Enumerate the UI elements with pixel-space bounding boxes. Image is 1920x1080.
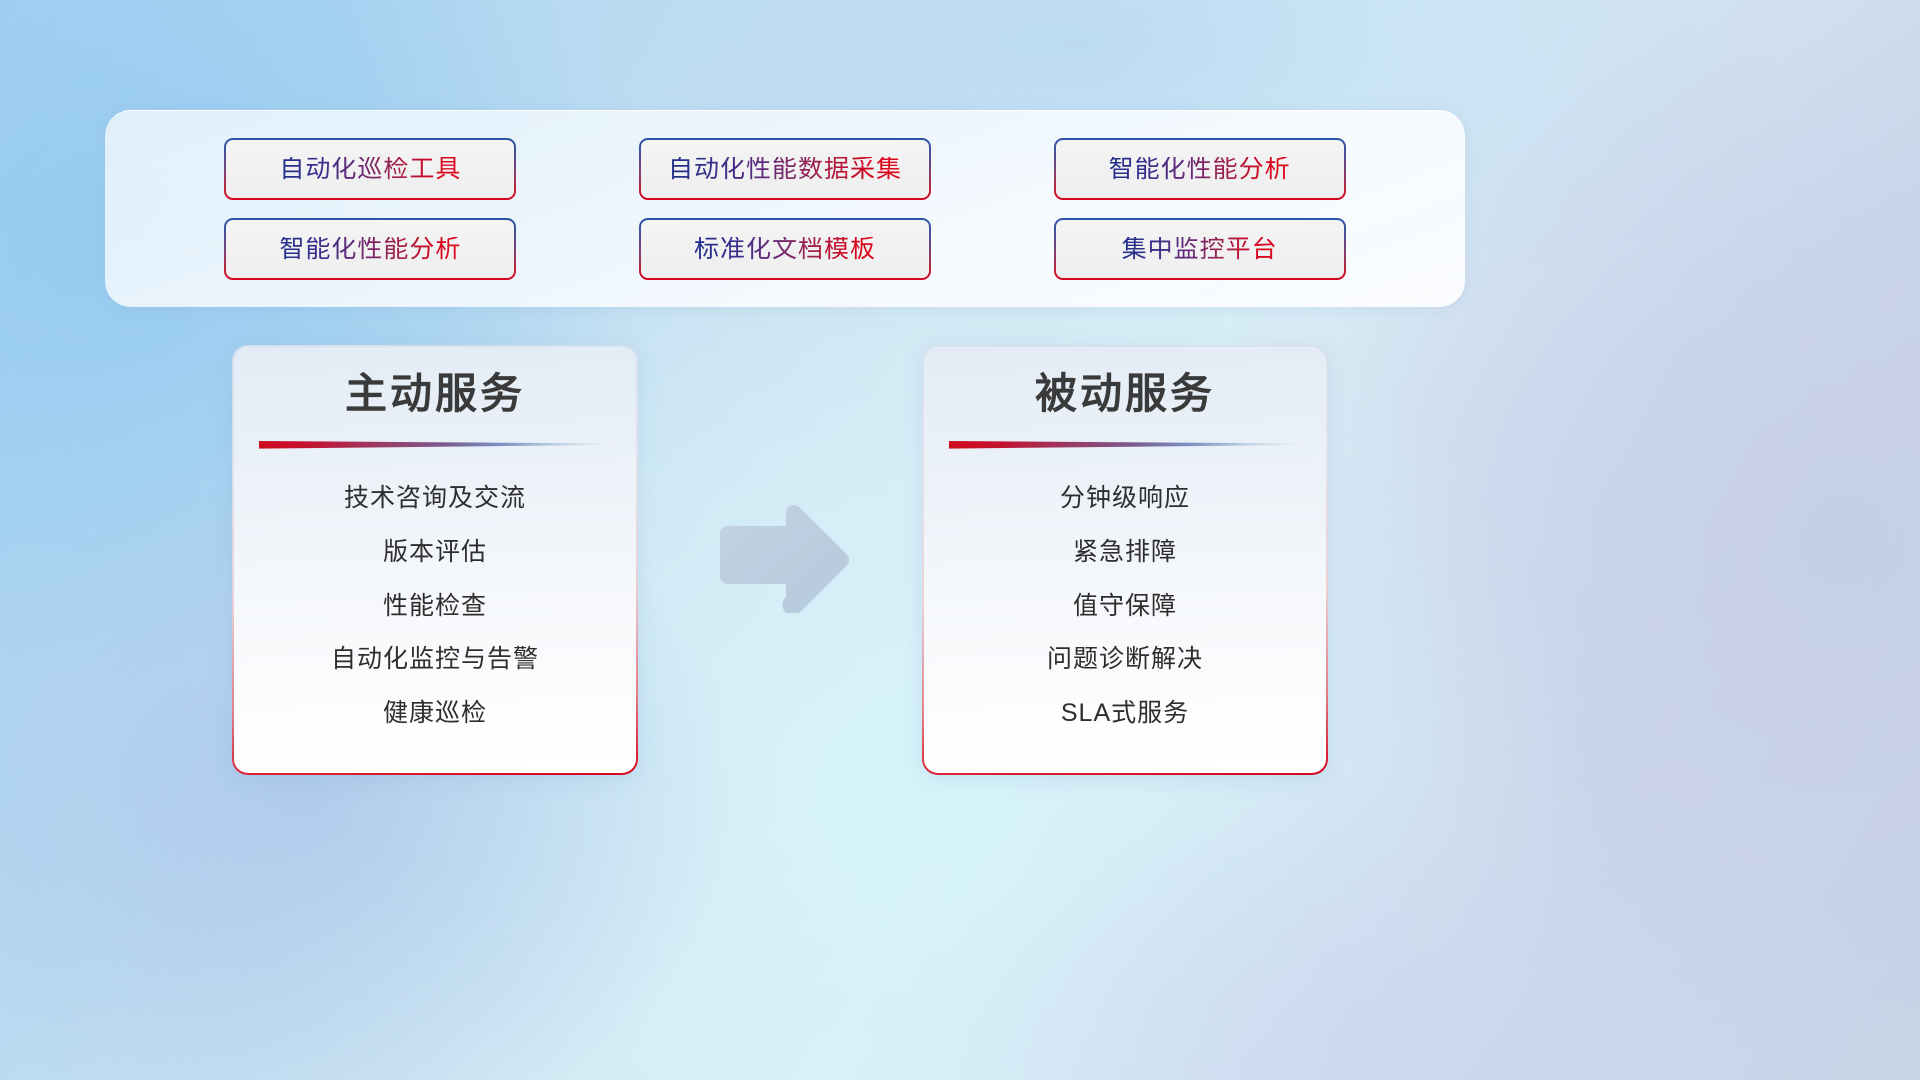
capability-pill-6-body: 集中监控平台 (1056, 220, 1344, 278)
capability-panel: 自动化巡检工具 自动化性能数据采集 智能化性能分析 智能化性能分析 (105, 110, 1465, 307)
capability-pill-2[interactable]: 自动化性能数据采集 (639, 138, 931, 200)
service-item: SLA式服务 (1061, 701, 1189, 726)
capability-pill-5-label: 标准化文档模板 (694, 237, 876, 262)
capability-pill-4[interactable]: 智能化性能分析 (224, 218, 516, 280)
capability-pill-5-body: 标准化文档模板 (641, 220, 929, 278)
service-item: 技术咨询及交流 (344, 486, 526, 511)
capability-pill-1-label: 自动化巡检工具 (279, 157, 461, 182)
slide-canvas: 自动化巡检工具 自动化性能数据采集 智能化性能分析 智能化性能分析 (0, 0, 1920, 1080)
capability-pill-3-label: 智能化性能分析 (1109, 157, 1291, 182)
service-card-active-body: 主动服务 技术咨询及交流 版本评估 (234, 347, 636, 773)
service-item: 值守保障 (1073, 594, 1177, 619)
service-card-active[interactable]: 主动服务 技术咨询及交流 版本评估 (232, 345, 638, 775)
service-item: 分钟级响应 (1060, 486, 1190, 511)
service-item: 自动化监控与告警 (331, 647, 539, 672)
service-card-active-title: 主动服务 (345, 369, 525, 419)
service-item: 性能检查 (383, 594, 487, 619)
service-item: 版本评估 (383, 540, 487, 565)
capability-pill-3[interactable]: 智能化性能分析 (1054, 138, 1346, 200)
service-card-active-list: 技术咨询及交流 版本评估 性能检查 自动化监控与告警 健康巡检 (234, 457, 636, 773)
service-item: 健康巡检 (383, 701, 487, 726)
capability-pill-6[interactable]: 集中监控平台 (1054, 218, 1346, 280)
capability-pill-2-label: 自动化性能数据采集 (668, 157, 902, 182)
service-card-passive-divider (949, 439, 1301, 451)
service-card-passive-body: 被动服务 分钟级响应 紧急排障 (924, 347, 1326, 773)
capability-pill-3-body: 智能化性能分析 (1056, 140, 1344, 198)
service-item: 紧急排障 (1073, 540, 1177, 565)
capability-pill-6-label: 集中监控平台 (1122, 237, 1278, 262)
capability-pill-4-label: 智能化性能分析 (279, 237, 461, 262)
capability-pill-2-body: 自动化性能数据采集 (641, 140, 929, 198)
service-card-active-divider (259, 439, 611, 451)
capability-pill-1-body: 自动化巡检工具 (226, 140, 514, 198)
service-item: 问题诊断解决 (1047, 647, 1203, 672)
service-card-passive-title: 被动服务 (1035, 369, 1215, 419)
capability-pill-4-body: 智能化性能分析 (226, 220, 514, 278)
capability-pill-1[interactable]: 自动化巡检工具 (224, 138, 516, 200)
service-card-passive-list: 分钟级响应 紧急排障 值守保障 问题诊断解决 SLA式服务 (924, 457, 1326, 773)
capability-pill-grid: 自动化巡检工具 自动化性能数据采集 智能化性能分析 智能化性能分析 (105, 111, 1465, 307)
arrow-right-icon (714, 505, 854, 613)
capability-pill-5[interactable]: 标准化文档模板 (639, 218, 931, 280)
service-card-passive[interactable]: 被动服务 分钟级响应 紧急排障 (922, 345, 1328, 775)
